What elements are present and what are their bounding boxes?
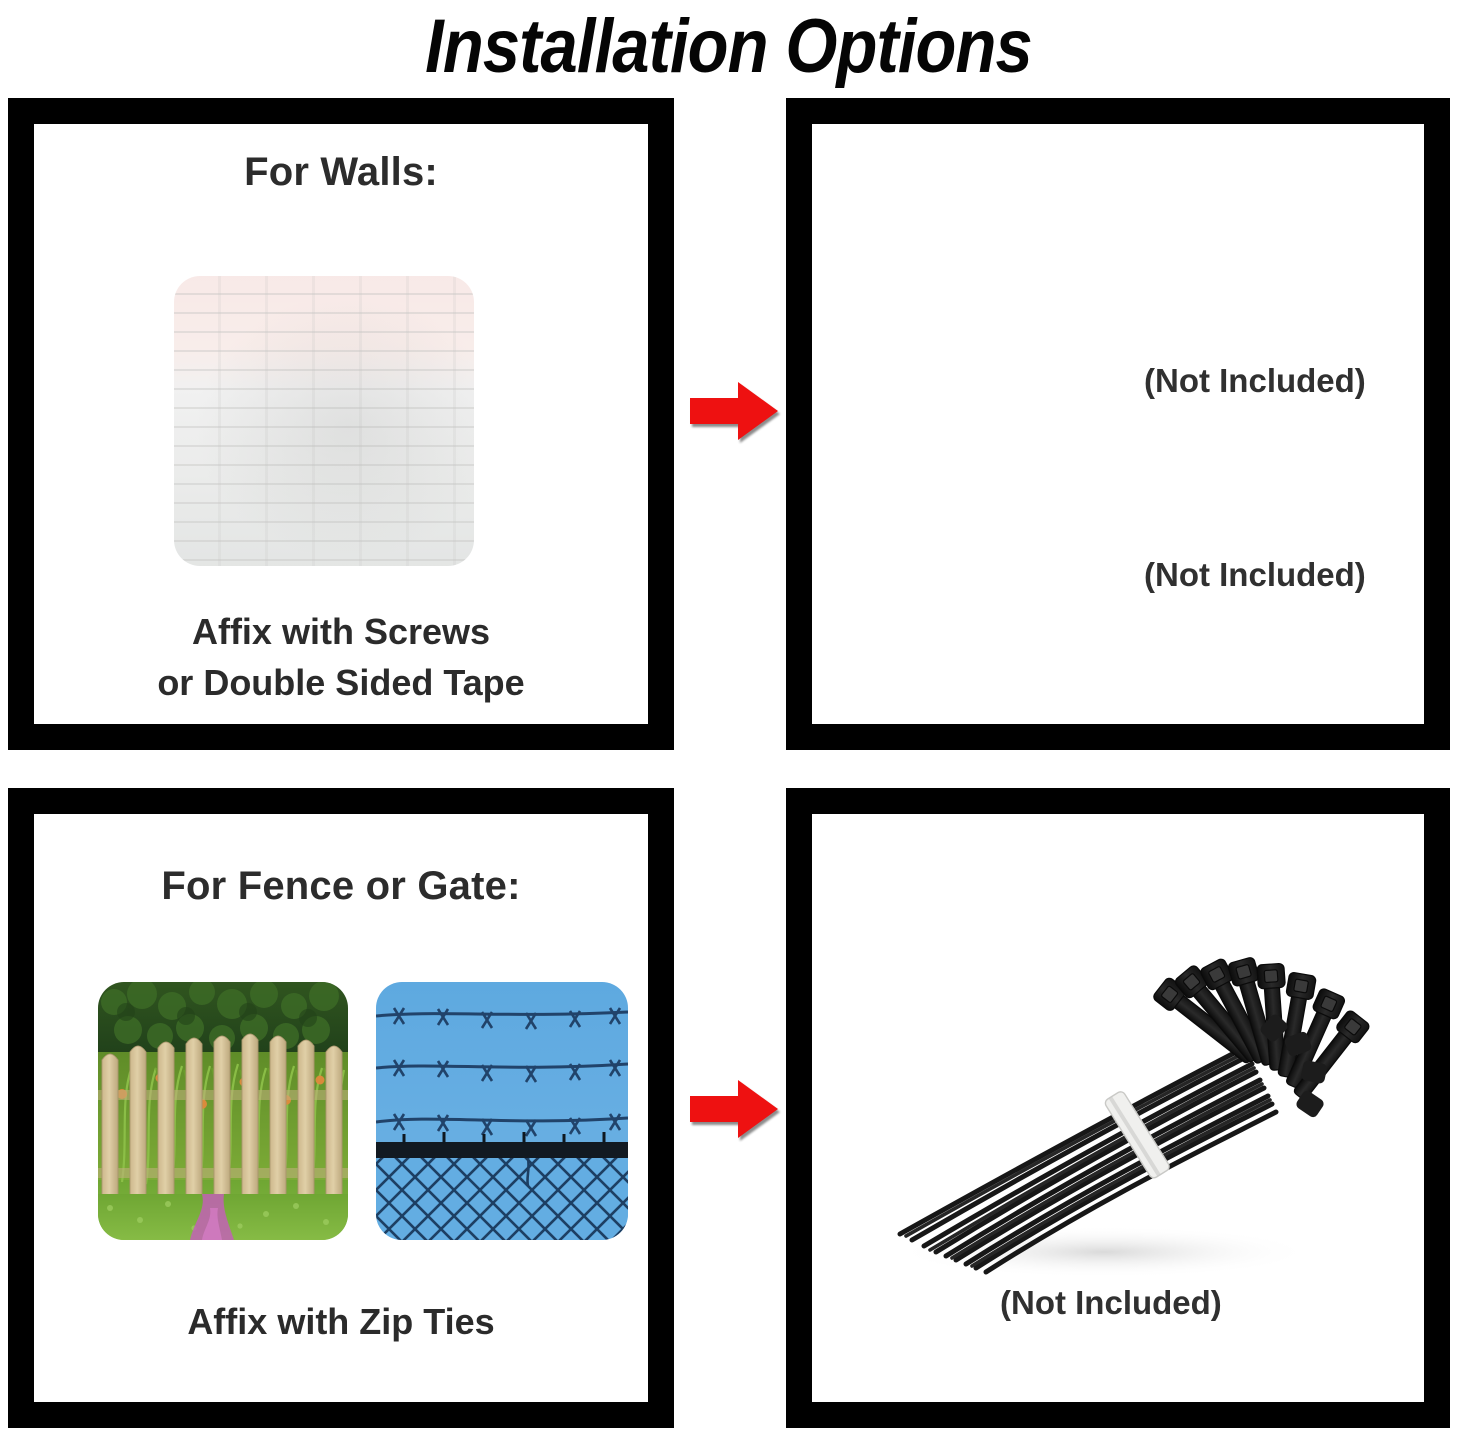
wooden-picket-fence-photo	[98, 982, 348, 1240]
page-title: Installation Options	[87, 0, 1369, 92]
panel-hardware: (Not Included)	[786, 98, 1450, 750]
panel-walls-caption-line1: Affix with Screws	[34, 606, 648, 657]
white-brick-wall-photo	[174, 276, 474, 566]
panel-walls-caption: Affix with Screws or Double Sided Tape	[34, 606, 648, 708]
tape-not-included-label: (Not Included)	[1144, 362, 1366, 400]
panel-walls-heading: For Walls:	[34, 150, 648, 195]
panel-for-walls-content: For Walls: Affix with Screws or Double S…	[34, 124, 648, 724]
right-arrow-icon	[688, 380, 780, 442]
panel-for-walls: For Walls: Affix with Screws or Double S…	[8, 98, 674, 750]
black-zip-ties-bundle-photo	[854, 922, 1384, 1322]
panel-zip-ties: (Not Included)	[786, 788, 1450, 1428]
right-arrow-icon	[688, 1078, 780, 1140]
panel-ziptie-content: (Not Included)	[812, 814, 1424, 1402]
panel-fence-heading: For Fence or Gate:	[34, 864, 648, 909]
panel-fence-content: For Fence or Gate:	[34, 814, 648, 1402]
barbed-wire-chain-link-fence-photo	[376, 982, 628, 1240]
panel-walls-caption-line2: or Double Sided Tape	[34, 657, 648, 708]
brick-shading-overlay	[174, 276, 474, 566]
panel-for-fence-or-gate: For Fence or Gate:	[8, 788, 674, 1428]
screws-not-included-label: (Not Included)	[1144, 556, 1366, 594]
panel-hardware-content: (Not Included)	[812, 124, 1424, 724]
panel-fence-caption: Affix with Zip Ties	[34, 1296, 648, 1347]
ziptie-not-included-label: (Not Included)	[1000, 1284, 1222, 1322]
